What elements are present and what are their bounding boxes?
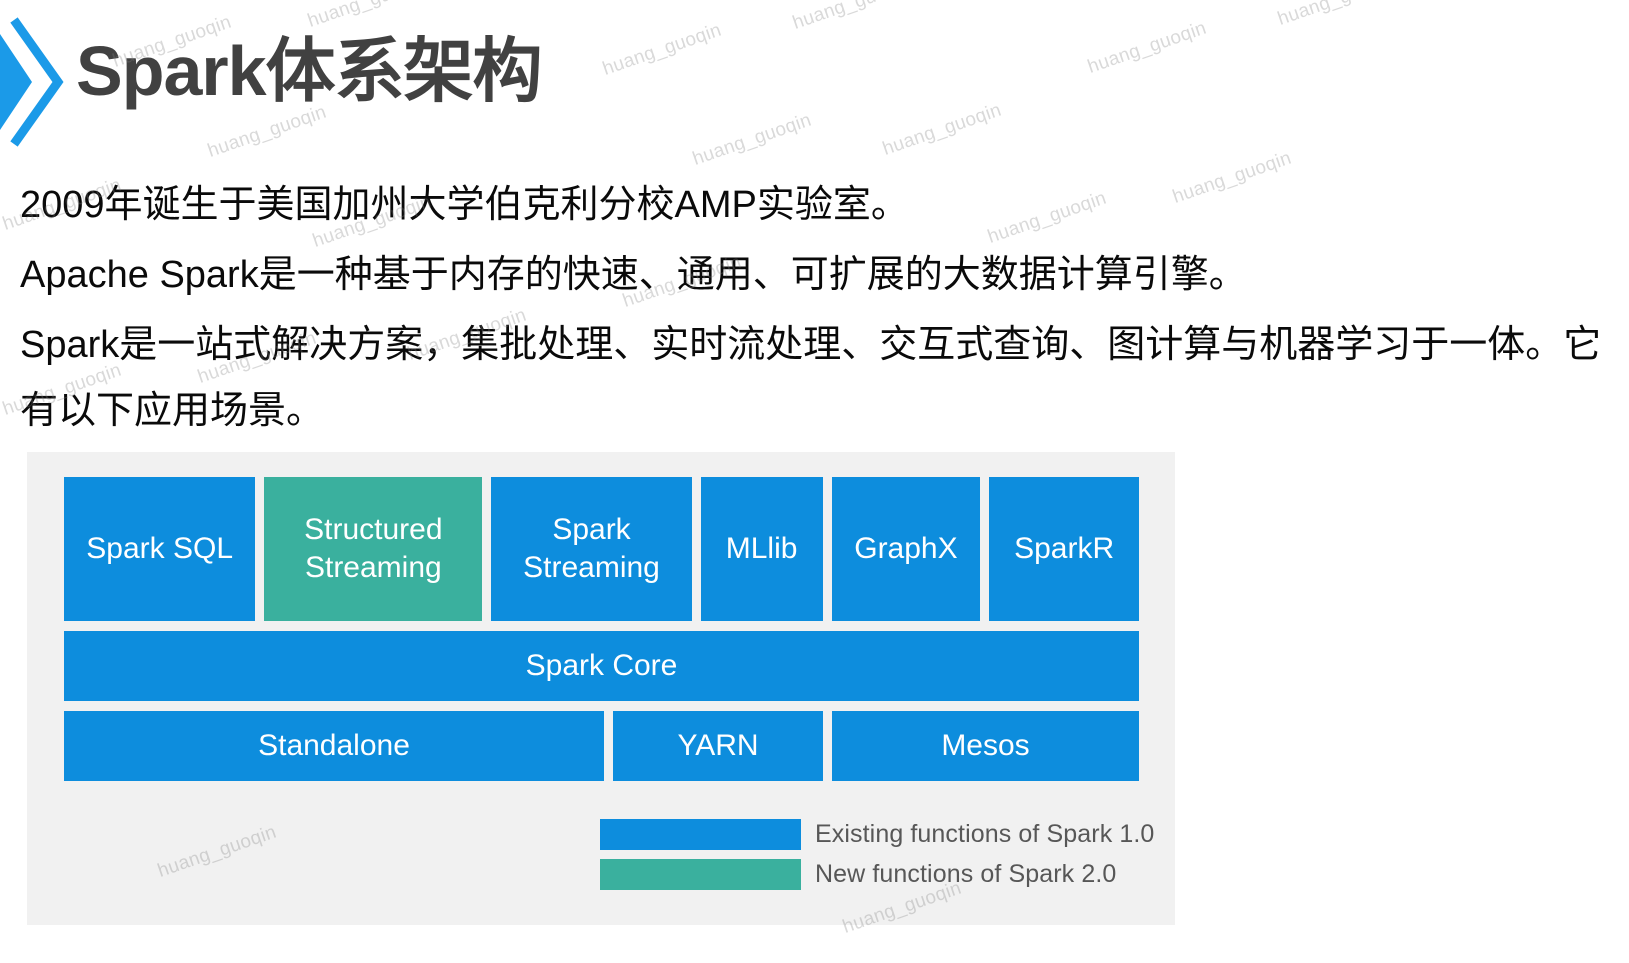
diagram-block-mllib: MLlib	[701, 477, 823, 621]
paragraph-3: Spark是一站式解决方案，集批处理、实时流处理、交互式查询、图计算与机器学习于…	[20, 312, 1620, 444]
diagram-block-spark-core: Spark Core	[64, 631, 1139, 701]
diagram-block-spark-streaming: Spark Streaming	[491, 477, 691, 621]
diagram-block-yarn: YARN	[613, 711, 823, 781]
diagram-legend: Existing functions of Spark 1.0New funct…	[600, 819, 1154, 890]
chevron-right-double-icon	[0, 12, 66, 152]
diagram-block-graphx: GraphX	[832, 477, 981, 621]
diagram-block-sparkr: SparkR	[989, 477, 1139, 621]
diagram-row-cluster-managers: StandaloneYARNMesos	[64, 711, 1139, 781]
legend-swatch-new	[600, 859, 801, 890]
body-text-block: 2009年诞生于美国加州大学伯克利分校AMP实验室。 Apache Spark是…	[20, 172, 1620, 448]
diagram-row-core: Spark Core	[64, 631, 1139, 701]
paragraph-2: Apache Spark是一种基于内存的快速、通用、可扩展的大数据计算引擎。	[20, 242, 1620, 308]
diagram-block-mesos: Mesos	[832, 711, 1139, 781]
diagram-row-libraries: Spark SQLStructured StreamingSpark Strea…	[64, 477, 1139, 621]
diagram-block-structured-streaming: Structured Streaming	[264, 477, 482, 621]
page-title: Spark体系架构	[76, 36, 542, 106]
legend-row: Existing functions of Spark 1.0	[600, 819, 1154, 850]
legend-row: New functions of Spark 2.0	[600, 859, 1154, 890]
legend-label: New functions of Spark 2.0	[815, 860, 1116, 889]
diagram-block-standalone: Standalone	[64, 711, 604, 781]
spark-architecture-diagram: Spark SQLStructured StreamingSpark Strea…	[27, 452, 1175, 925]
slide-header: Spark体系架构	[0, 0, 1629, 160]
legend-label: Existing functions of Spark 1.0	[815, 820, 1154, 849]
diagram-block-spark-sql: Spark SQL	[64, 477, 255, 621]
legend-swatch-existing	[600, 819, 801, 850]
paragraph-1: 2009年诞生于美国加州大学伯克利分校AMP实验室。	[20, 172, 1620, 238]
